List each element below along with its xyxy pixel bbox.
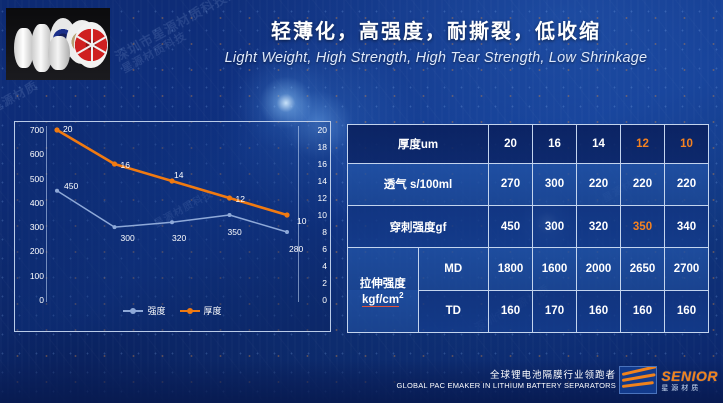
chart-left-tick: 300: [18, 222, 44, 232]
page-subtitle: Light Weight, High Strength, High Tear S…: [196, 50, 676, 66]
specification-table: 厚度um2016141210透气 s/100ml270300220220220穿…: [347, 124, 709, 333]
chart-point-label: 300: [121, 233, 135, 243]
footer-tagline-chinese: 全球锂电池隔膜行业领跑者: [490, 367, 616, 381]
page-title: 轻薄化，高强度，耐撕裂，低收缩: [196, 20, 676, 45]
logo-wordmark: SENIOR: [661, 369, 718, 383]
product-photo: [6, 8, 110, 80]
chart-point-label: 320: [172, 233, 186, 243]
chart-right-tick: 16: [301, 159, 327, 169]
table-cell: 10: [665, 125, 709, 164]
company-logo: SENIOR 星源材质: [619, 365, 718, 395]
chart-right-tick: 18: [301, 142, 327, 152]
chart-point-label: 280: [289, 244, 303, 254]
table-cell: 160: [665, 290, 709, 332]
table-row: 透气 s/100ml270300220220220: [348, 163, 709, 205]
chart-data-point: [55, 189, 59, 193]
table-cell: 170: [533, 290, 577, 332]
chart-data-point: [170, 220, 174, 224]
chart-right-tick: 20: [301, 125, 327, 135]
chart-right-tick: 14: [301, 176, 327, 186]
table-cell: 300: [533, 163, 577, 205]
logo-swoosh-icon: [619, 366, 657, 394]
chart-data-point: [112, 161, 117, 166]
table-cell: 270: [489, 163, 533, 205]
table-cell: 14: [577, 125, 621, 164]
chart-left-tick: 600: [18, 149, 44, 159]
performance-chart: 7006005004003002001000201816141210864204…: [14, 121, 331, 332]
watermark-text: 星源材质科技: [119, 28, 190, 77]
table-cell: 350: [621, 206, 665, 248]
table-cell: 160: [577, 290, 621, 332]
table-row: 穿刺强度gf450300320350340: [348, 206, 709, 248]
table-cell: 2700: [665, 248, 709, 290]
table-cell: 220: [577, 163, 621, 205]
table-cell: 2650: [621, 248, 665, 290]
table-cell: 160: [621, 290, 665, 332]
table-cell: 12: [621, 125, 665, 164]
table-cell: 450: [489, 206, 533, 248]
legend-swatch-icon: [123, 310, 143, 312]
table-subrow-label: TD: [418, 290, 489, 332]
chart-line-thickness: [57, 130, 287, 215]
chart-data-point: [227, 195, 232, 200]
chart-data-point: [285, 230, 289, 234]
legend-label: 强度: [147, 304, 165, 317]
chart-point-label: 12: [236, 194, 245, 204]
table-subrow-label: MD: [418, 248, 489, 290]
chart-data-point: [228, 213, 232, 217]
chart-plot-area: [15, 122, 332, 333]
chart-data-point: [284, 212, 289, 217]
chart-left-tick: 700: [18, 125, 44, 135]
table-cell: 1600: [533, 248, 577, 290]
chart-point-label: 20: [63, 124, 72, 134]
footer-tagline-english: GLOBAL PAC EMAKER IN LITHIUM BATTERY SEP…: [397, 381, 616, 390]
chart-point-label: 10: [297, 216, 306, 226]
table-row: 拉伸强度kgf/cm2MD18001600200026502700: [348, 248, 709, 290]
table-cell: 160: [489, 290, 533, 332]
table-cell: 20: [489, 125, 533, 164]
chart-left-tick: 500: [18, 174, 44, 184]
table-row-label: 透气 s/100ml: [348, 163, 489, 205]
chart-right-tick: 2: [301, 278, 327, 288]
legend-label: 厚度: [204, 304, 222, 317]
logo-wordmark-chinese: 星源材质: [661, 385, 718, 392]
table-row-label: 拉伸强度kgf/cm2: [348, 248, 419, 333]
table-cell: 340: [665, 206, 709, 248]
chart-line-strength: [57, 191, 287, 232]
film-roll: [48, 36, 70, 70]
footer-bar: 全球锂电池隔膜行业领跑者 GLOBAL PAC EMAKER IN LITHIU…: [0, 359, 723, 403]
table-cell: 220: [665, 163, 709, 205]
film-roll-red-core: [74, 22, 108, 68]
legend-swatch-icon: [180, 310, 200, 312]
headline-block: 轻薄化，高强度，耐撕裂，低收缩 Light Weight, High Stren…: [196, 20, 676, 66]
table-row-label: 厚度um: [348, 125, 489, 164]
slide-root: 深圳市星源材质科技股份 星源材质科技 星源材质 深圳市星源材质 星源材质科技 星…: [0, 0, 723, 403]
legend-item-strength: 强度: [123, 304, 165, 317]
chart-left-tick: 200: [18, 246, 44, 256]
table-cell: 300: [533, 206, 577, 248]
chart-right-tick: 8: [301, 227, 327, 237]
chart-right-tick: 6: [301, 244, 327, 254]
table-cell: 220: [621, 163, 665, 205]
chart-right-tick: 4: [301, 261, 327, 271]
table-row-label: 穿刺强度gf: [348, 206, 489, 248]
chart-point-label: 350: [228, 227, 242, 237]
table-cell: 16: [533, 125, 577, 164]
chart-legend: 强度 厚度: [15, 304, 330, 317]
chart-point-label: 450: [64, 181, 78, 191]
legend-item-thickness: 厚度: [180, 304, 222, 317]
table-cell: 1800: [489, 248, 533, 290]
chart-left-tick: 100: [18, 271, 44, 281]
chart-left-tick: 400: [18, 198, 44, 208]
chart-data-point: [54, 127, 59, 132]
table-row: 厚度um2016141210: [348, 125, 709, 164]
chart-right-tick: 12: [301, 193, 327, 203]
chart-point-label: 14: [174, 170, 183, 180]
table-cell: 320: [577, 206, 621, 248]
watermark-text: 星源材质: [0, 76, 41, 116]
table-cell: 2000: [577, 248, 621, 290]
chart-data-point: [113, 225, 117, 229]
chart-point-label: 16: [121, 160, 130, 170]
